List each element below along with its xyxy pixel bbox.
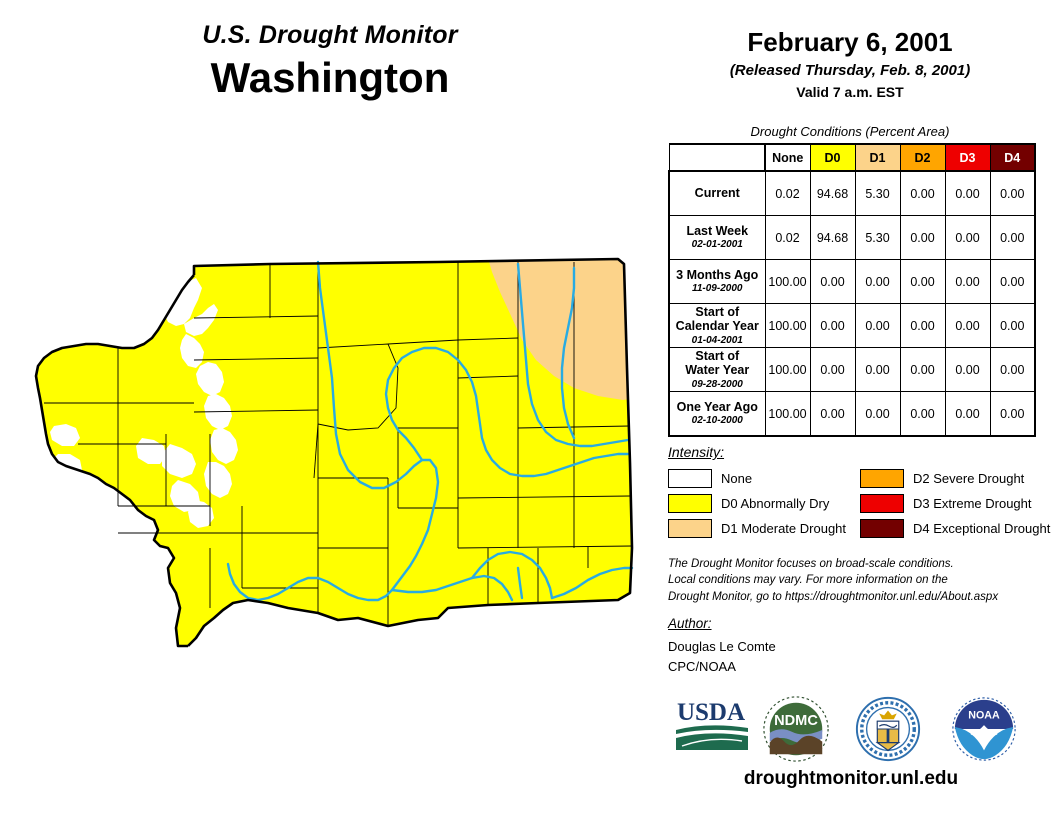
legend-swatch-d0 bbox=[668, 494, 712, 513]
cell-d1: 0.00 bbox=[855, 348, 900, 392]
column-header-d4: D4 bbox=[990, 144, 1035, 171]
cell-d4: 0.00 bbox=[990, 260, 1035, 304]
table-row: One Year Ago 02-10-2000 100.00 0.00 0.00… bbox=[669, 392, 1035, 437]
usda-logo[interactable]: USDA bbox=[668, 694, 754, 754]
cell-none: 100.00 bbox=[765, 348, 810, 392]
row-label-text: Start ofWater Year bbox=[685, 349, 749, 377]
legend-label-d3: D3 Extreme Drought bbox=[913, 496, 1032, 511]
row-label-date: 01-04-2001 bbox=[670, 335, 765, 347]
row-label-start-of-calendar-year: Start ofCalendar Year 01-04-2001 bbox=[669, 304, 765, 348]
legend-item-none: None bbox=[668, 466, 846, 491]
ndmc-logo[interactable]: NDMC bbox=[760, 694, 832, 764]
column-header-d0: D0 bbox=[810, 144, 855, 171]
legend-item-d1: D1 Moderate Drought bbox=[668, 516, 846, 541]
legend-column-right: D2 Severe Drought D3 Extreme Drought D4 … bbox=[860, 466, 1050, 541]
row-label-one-year-ago: One Year Ago 02-10-2000 bbox=[669, 392, 765, 437]
author-name: Douglas Le Comte bbox=[668, 637, 776, 657]
cell-d3: 0.00 bbox=[945, 260, 990, 304]
row-label-text: Start ofCalendar Year bbox=[676, 305, 759, 333]
table-row: 3 Months Ago 11-09-2000 100.00 0.00 0.00… bbox=[669, 260, 1035, 304]
usdc-seal-logo[interactable] bbox=[852, 694, 924, 764]
column-header-d2: D2 bbox=[900, 144, 945, 171]
cell-d3: 0.00 bbox=[945, 216, 990, 260]
cell-d0: 0.00 bbox=[810, 348, 855, 392]
usda-logo-text: USDA bbox=[677, 699, 745, 726]
cell-d4: 0.00 bbox=[990, 216, 1035, 260]
cell-d0: 94.68 bbox=[810, 216, 855, 260]
cell-none: 100.00 bbox=[765, 304, 810, 348]
header-spacer bbox=[669, 144, 765, 171]
legend-item-d4: D4 Exceptional Drought bbox=[860, 516, 1050, 541]
cell-d3: 0.00 bbox=[945, 348, 990, 392]
washington-map-svg[interactable] bbox=[18, 248, 658, 648]
row-label-last-week: Last Week 02-01-2001 bbox=[669, 216, 765, 260]
cell-d2: 0.00 bbox=[900, 216, 945, 260]
logo-row: USDA NDMC bbox=[660, 694, 1056, 764]
legend-item-d0: D0 Abnormally Dry bbox=[668, 491, 846, 516]
author-heading: Author: bbox=[668, 616, 712, 631]
cell-d2: 0.00 bbox=[900, 260, 945, 304]
cell-d0: 94.68 bbox=[810, 171, 855, 216]
row-label-text: Current bbox=[695, 186, 740, 200]
legend-swatch-none bbox=[668, 469, 712, 488]
column-header-d1: D1 bbox=[855, 144, 900, 171]
cell-d4: 0.00 bbox=[990, 392, 1035, 437]
legend-label-d0: D0 Abnormally Dry bbox=[721, 496, 829, 511]
row-label-date: 02-10-2000 bbox=[670, 415, 765, 427]
cell-none: 100.00 bbox=[765, 392, 810, 437]
legend-swatch-d2 bbox=[860, 469, 904, 488]
noaa-logo-text: NOAA bbox=[968, 709, 1000, 721]
table-row: Start ofCalendar Year 01-04-2001 100.00 … bbox=[669, 304, 1035, 348]
release-date: (Released Thursday, Feb. 8, 2001) bbox=[660, 61, 1040, 81]
column-header-none: None bbox=[765, 144, 810, 171]
legend-swatch-d4 bbox=[860, 519, 904, 538]
legend-label-d4: D4 Exceptional Drought bbox=[913, 521, 1050, 536]
cell-d4: 0.00 bbox=[990, 304, 1035, 348]
page-title-block: U.S. Drought Monitor Washington bbox=[0, 22, 660, 102]
cell-d4: 0.00 bbox=[990, 171, 1035, 216]
cell-d0: 0.00 bbox=[810, 260, 855, 304]
disclaimer-line-2: Local conditions may vary. For more info… bbox=[668, 572, 1054, 588]
legend-label-d1: D1 Moderate Drought bbox=[721, 521, 846, 536]
cell-d2: 0.00 bbox=[900, 348, 945, 392]
table-row: Current 0.02 94.68 5.30 0.00 0.00 0.00 bbox=[669, 171, 1035, 216]
table-caption: Drought Conditions (Percent Area) bbox=[660, 124, 1040, 139]
valid-time: Valid 7 a.m. EST bbox=[660, 84, 1040, 100]
column-header-d3: D3 bbox=[945, 144, 990, 171]
table-row: Start ofWater Year 09-28-2000 100.00 0.0… bbox=[669, 348, 1035, 392]
row-label-current: Current bbox=[669, 171, 765, 216]
site-url[interactable]: droughtmonitor.unl.edu bbox=[660, 768, 1042, 790]
intensity-heading: Intensity: bbox=[668, 444, 724, 460]
legend-swatch-d3 bbox=[860, 494, 904, 513]
page-title: U.S. Drought Monitor bbox=[0, 22, 660, 50]
legend-column-left: None D0 Abnormally Dry D1 Moderate Droug… bbox=[668, 466, 846, 541]
row-label-start-of-water-year: Start ofWater Year 09-28-2000 bbox=[669, 348, 765, 392]
drought-map[interactable] bbox=[18, 248, 658, 648]
info-panel: February 6, 2001 (Released Thursday, Feb… bbox=[660, 0, 1056, 816]
cell-none: 0.02 bbox=[765, 216, 810, 260]
table-header-row: None D0 D1 D2 D3 D4 bbox=[669, 144, 1035, 171]
cell-none: 0.02 bbox=[765, 171, 810, 216]
disclaimer-line-1: The Drought Monitor focuses on broad-sca… bbox=[668, 556, 1054, 572]
legend-item-d2: D2 Severe Drought bbox=[860, 466, 1050, 491]
row-label-date: 11-09-2000 bbox=[670, 283, 765, 295]
state-name-title: Washington bbox=[0, 54, 660, 102]
cell-d3: 0.00 bbox=[945, 392, 990, 437]
cell-d1: 0.00 bbox=[855, 392, 900, 437]
cell-d1: 5.30 bbox=[855, 216, 900, 260]
row-label-date: 09-28-2000 bbox=[670, 379, 765, 391]
legend-item-d3: D3 Extreme Drought bbox=[860, 491, 1050, 516]
legend-swatch-d1 bbox=[668, 519, 712, 538]
author-org: CPC/NOAA bbox=[668, 657, 776, 677]
cell-d4: 0.00 bbox=[990, 348, 1035, 392]
legend-label-d2: D2 Severe Drought bbox=[913, 471, 1024, 486]
cell-d3: 0.00 bbox=[945, 304, 990, 348]
row-label-text: Last Week bbox=[686, 224, 748, 238]
cell-d1: 5.30 bbox=[855, 171, 900, 216]
cell-d0: 0.00 bbox=[810, 392, 855, 437]
row-label-text: One Year Ago bbox=[677, 400, 758, 414]
cell-d2: 0.00 bbox=[900, 171, 945, 216]
cell-d0: 0.00 bbox=[810, 304, 855, 348]
legend-label-none: None bbox=[721, 471, 752, 486]
cell-d2: 0.00 bbox=[900, 304, 945, 348]
ndmc-logo-text: NDMC bbox=[774, 713, 818, 729]
cell-d1: 0.00 bbox=[855, 260, 900, 304]
disclaimer-line-3: Drought Monitor, go to https://droughtmo… bbox=[668, 589, 1054, 605]
noaa-logo[interactable]: NOAA bbox=[948, 694, 1020, 764]
disclaimer-text: The Drought Monitor focuses on broad-sca… bbox=[668, 556, 1054, 605]
cell-none: 100.00 bbox=[765, 260, 810, 304]
cell-d2: 0.00 bbox=[900, 392, 945, 437]
author-info: Douglas Le Comte CPC/NOAA bbox=[668, 637, 776, 676]
drought-conditions-table: None D0 D1 D2 D3 D4 Current 0.02 94.68 5… bbox=[668, 143, 1036, 437]
cell-d3: 0.00 bbox=[945, 171, 990, 216]
row-label-3-months-ago: 3 Months Ago 11-09-2000 bbox=[669, 260, 765, 304]
report-date: February 6, 2001 bbox=[660, 28, 1040, 58]
drought-conditions-table-wrap: None D0 D1 D2 D3 D4 Current 0.02 94.68 5… bbox=[668, 143, 1036, 437]
table-row: Last Week 02-01-2001 0.02 94.68 5.30 0.0… bbox=[669, 216, 1035, 260]
date-block: February 6, 2001 (Released Thursday, Feb… bbox=[660, 0, 1040, 100]
row-label-date: 02-01-2001 bbox=[670, 239, 765, 251]
cell-d1: 0.00 bbox=[855, 304, 900, 348]
row-label-text: 3 Months Ago bbox=[676, 268, 758, 282]
